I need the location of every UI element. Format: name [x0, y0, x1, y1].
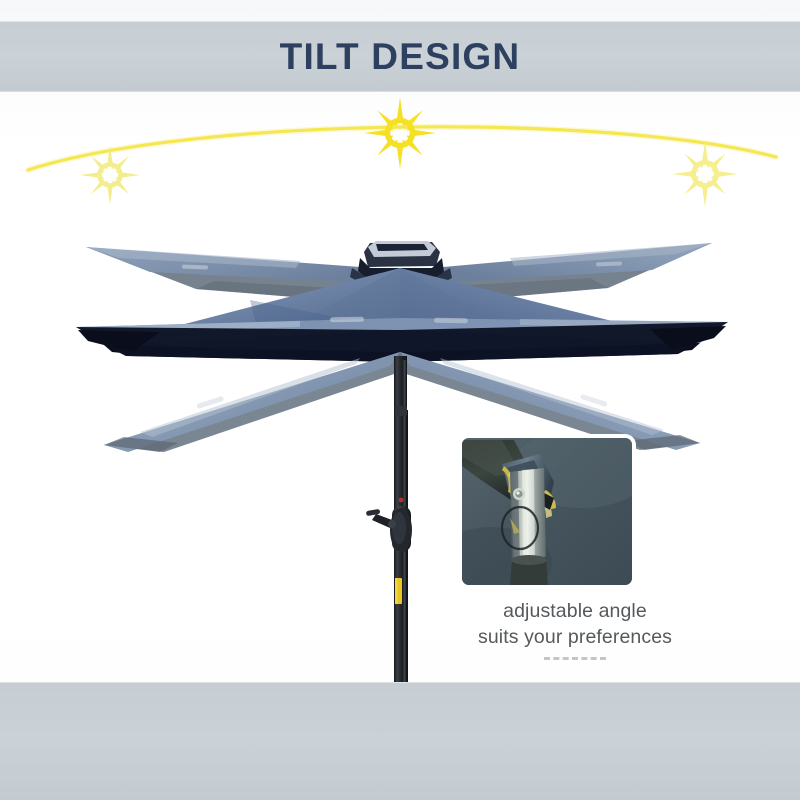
tilt-mechanism-photo — [462, 438, 632, 585]
page-title: TILT DESIGN — [0, 21, 800, 92]
sun-center-icon — [355, 88, 445, 178]
caption-divider — [544, 657, 606, 660]
caption-line-1: adjustable angle — [430, 598, 720, 624]
bottom-banner-band — [0, 682, 800, 800]
sun-left-icon — [72, 137, 148, 213]
caption-line-2: suits your preferences — [430, 624, 720, 650]
caption-block: adjustable angle suits your preferences — [430, 598, 720, 660]
tilt-mechanism-closeup[interactable] — [462, 438, 632, 585]
sun-right-icon — [664, 133, 746, 215]
product-feature-image: adjustable angle suits your preferences … — [0, 0, 800, 800]
